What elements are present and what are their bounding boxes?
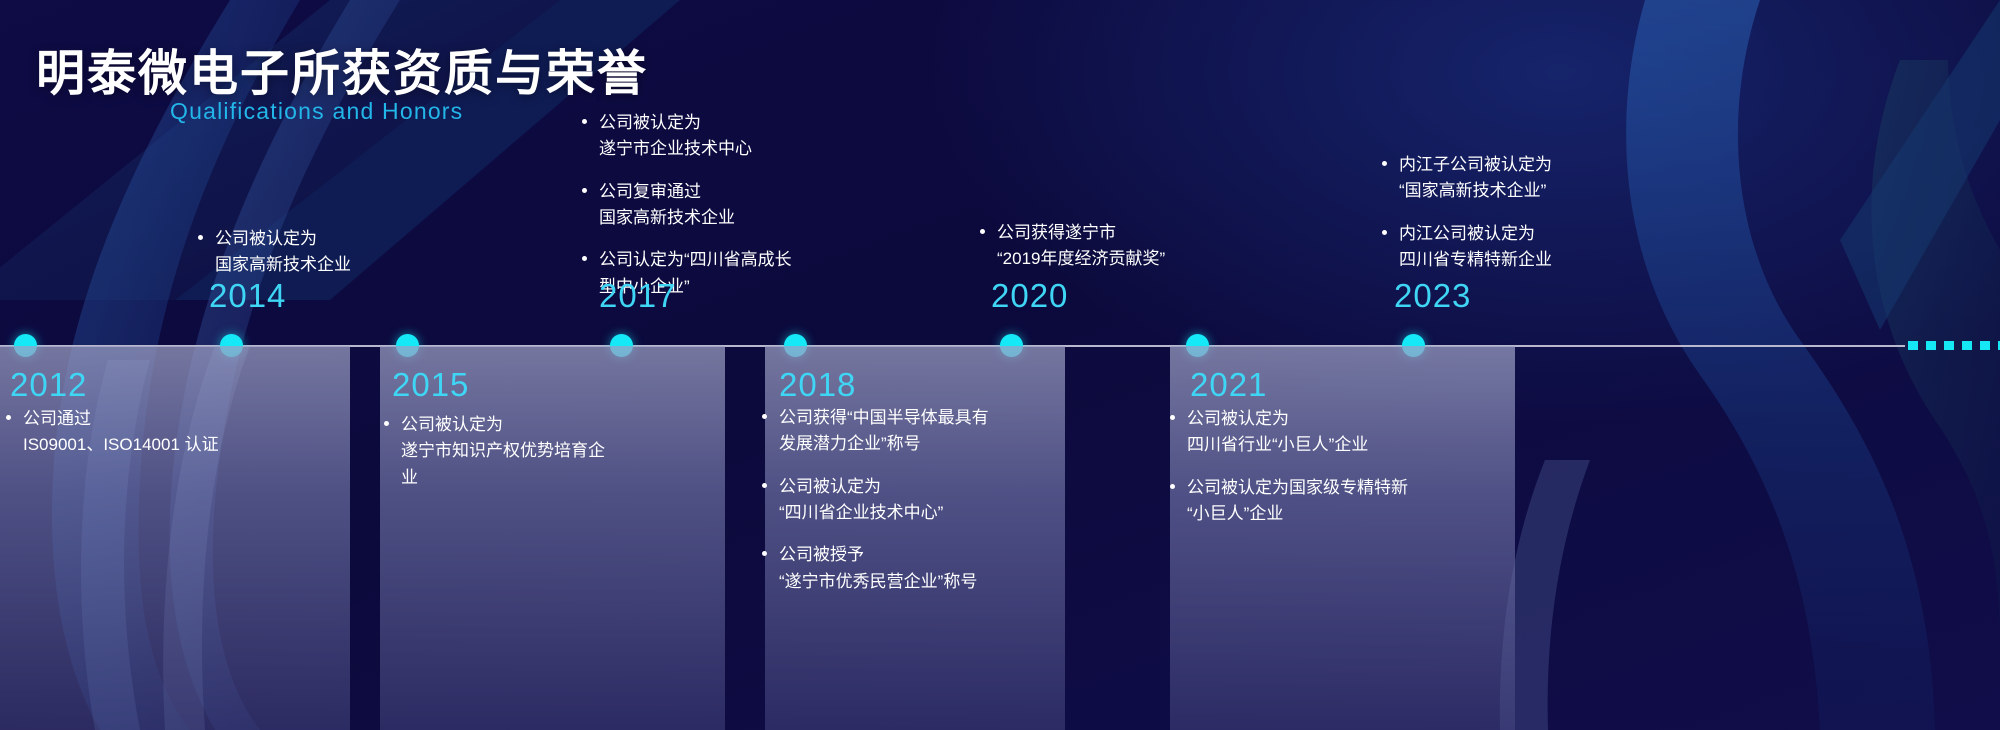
axis-dash — [1944, 341, 1954, 350]
bullet-item: 公司被授予 “遂宁市优秀民营企业”称号 — [760, 542, 1060, 595]
year-label-2014: 2014 — [209, 277, 286, 315]
year-label-2017: 2017 — [599, 277, 676, 315]
entry-2015-bullets: 公司被认定为 遂宁市知识产权优势培育企 业 — [382, 412, 608, 491]
entry-2021-bullets: 公司被认定为 四川省行业“小巨人”企业 公司被认定为国家级专精特新 “小巨人”企… — [1168, 406, 1508, 527]
year-label-2023: 2023 — [1394, 277, 1471, 315]
bullet-item: 公司被认定为国家级专精特新 “小巨人”企业 — [1168, 475, 1508, 528]
entry-2020-bullets: 公司获得遂宁市 “2019年度经济贡献奖” — [978, 220, 1308, 273]
axis-dash — [1908, 341, 1918, 350]
entry-2014-bullets: 公司被认定为 国家高新技术企业 — [196, 226, 496, 279]
timeline-axis-dashes — [1908, 341, 2000, 350]
bullet-item: 内江公司被认定为 四川省专精特新企业 — [1380, 221, 1710, 274]
bullet-item: 公司获得遂宁市 “2019年度经济贡献奖” — [978, 220, 1308, 273]
page-title: 明泰微电子所获资质与荣誉 — [36, 34, 648, 105]
bullet-item: 公司通过 IS09001、ISO14001 认证 — [4, 406, 334, 459]
bullet-item: 公司复审通过 国家高新技术企业 — [580, 179, 910, 232]
year-label-2020: 2020 — [991, 277, 1068, 315]
bullet-item: 公司被认定为 “四川省企业技术中心” — [760, 474, 1060, 527]
entry-2012-bullets: 公司通过 IS09001、ISO14001 认证 — [4, 406, 334, 459]
entry-2018-bullets: 公司获得“中国半导体最具有 发展潜力企业”称号 公司被认定为 “四川省企业技术中… — [760, 405, 1060, 595]
year-label-2021: 2021 — [1190, 366, 1267, 404]
bullet-item: 公司被认定为 遂宁市企业技术中心 — [580, 110, 910, 163]
bullet-item: 内江子公司被认定为 “国家高新技术企业” — [1380, 152, 1710, 205]
year-label-2012: 2012 — [10, 366, 87, 404]
page-subtitle: Qualifications and Honors — [170, 98, 463, 125]
entry-2017-bullets: 公司被认定为 遂宁市企业技术中心 公司复审通过 国家高新技术企业 公司认定为“四… — [580, 110, 910, 300]
entry-2023-bullets: 内江子公司被认定为 “国家高新技术企业” 内江公司被认定为 四川省专精特新企业 — [1380, 152, 1710, 273]
bullet-item: 公司被认定为 四川省行业“小巨人”企业 — [1168, 406, 1508, 459]
slide-canvas: 明泰微电子所获资质与荣誉 Qualifications and Honors 公… — [0, 0, 2000, 730]
year-label-2015: 2015 — [392, 366, 469, 404]
year-label-2018: 2018 — [779, 366, 856, 404]
bullet-item: 公司获得“中国半导体最具有 发展潜力企业”称号 — [760, 405, 1060, 458]
bullet-item: 公司被认定为 国家高新技术企业 — [196, 226, 496, 279]
axis-dash — [1926, 341, 1936, 350]
axis-dash — [1962, 341, 1972, 350]
bullet-item: 公司被认定为 遂宁市知识产权优势培育企 业 — [382, 412, 608, 491]
axis-dash — [1980, 341, 1990, 350]
